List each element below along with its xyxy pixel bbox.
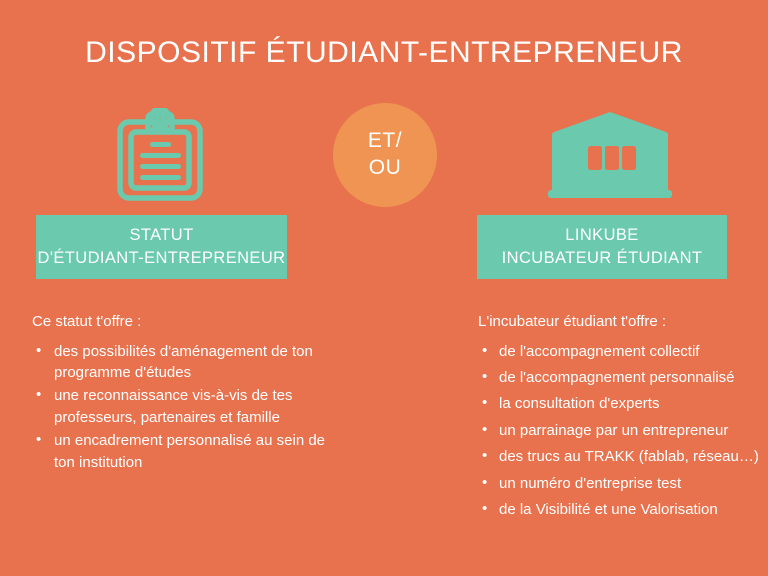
- list-item: un numéro d'entreprise test: [478, 473, 758, 494]
- page-title: DISPOSITIF ÉTUDIANT-ENTREPRENEUR: [0, 36, 768, 70]
- et-ou-connector: ET/ OU: [333, 103, 437, 207]
- list-item: une reconnaissance vis-à-vis de tes prof…: [32, 385, 332, 428]
- list-item: des possibilités d'aménagement de ton pr…: [32, 341, 332, 384]
- left-intro-text: Ce statut t'offre :: [32, 312, 332, 332]
- list-item: des trucs au TRAKK (fablab, réseau…): [478, 446, 758, 467]
- right-column: L'incubateur étudiant t'offre : de l'acc…: [478, 312, 758, 526]
- list-item: un encadrement personnalisé au sein de t…: [32, 430, 332, 473]
- banner-right-line-2: INCUBATEUR ÉTUDIANT: [502, 247, 703, 270]
- building-icon: [548, 110, 672, 198]
- infographic-poster: DISPOSITIF ÉTUDIANT-ENTREPRENEUR ET/ OU: [0, 0, 768, 576]
- left-column: Ce statut t'offre : des possibilités d'a…: [32, 312, 332, 475]
- clipboard-icon: [112, 108, 208, 204]
- left-benefits-list: des possibilités d'aménagement de ton pr…: [32, 341, 332, 474]
- banner-left-line-2: D'ÉTUDIANT-ENTREPRENEUR: [38, 247, 286, 270]
- list-item: de l'accompagnement personnalisé: [478, 367, 758, 388]
- list-item: de l'accompagnement collectif: [478, 341, 758, 362]
- connector-line-1: ET/: [368, 128, 402, 155]
- banner-statut-etudiant-entrepreneur: STATUT D'ÉTUDIANT-ENTREPRENEUR: [36, 215, 287, 279]
- list-item: de la Visibilité et une Valorisation: [478, 499, 758, 520]
- banner-linkube-incubateur: LINKUBE INCUBATEUR ÉTUDIANT: [477, 215, 727, 279]
- list-item: un parrainage par un entrepreneur: [478, 420, 758, 441]
- right-benefits-list: de l'accompagnement collectif de l'accom…: [478, 341, 758, 521]
- connector-line-2: OU: [369, 155, 402, 182]
- banner-left-line-1: STATUT: [129, 224, 193, 247]
- banner-right-line-1: LINKUBE: [565, 224, 638, 247]
- list-item: la consultation d'experts: [478, 393, 758, 414]
- right-intro-text: L'incubateur étudiant t'offre :: [478, 312, 758, 332]
